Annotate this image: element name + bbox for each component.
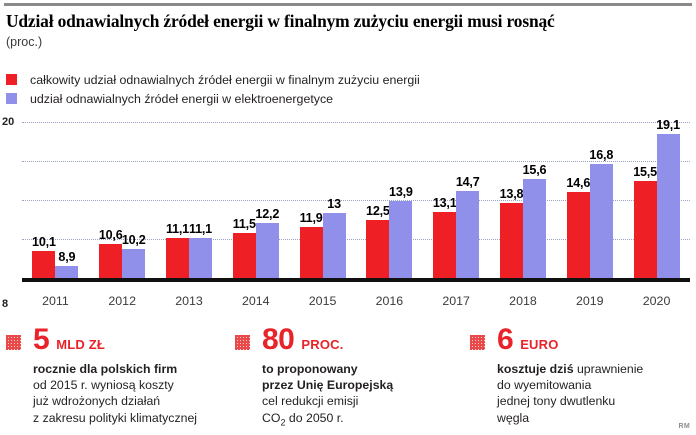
- bar-value-label: 15,6: [523, 163, 547, 177]
- stat-unit: PROC.: [301, 337, 343, 352]
- bar-value-label: 13,8: [500, 187, 524, 201]
- legend-item-total: całkowity udział odnawialnych źródeł ene…: [6, 70, 606, 89]
- bar-electricity-2015[interactable]: 13: [323, 213, 346, 278]
- stat-line: jednej tony dwutlenku: [497, 393, 696, 409]
- bar-value-label: 13: [327, 197, 341, 211]
- bar-total-2011[interactable]: 10,1: [32, 251, 55, 278]
- legend-label-total: całkowity udział odnawialnych źródeł ene…: [30, 73, 420, 87]
- x-axis-tick-2014: 2014: [242, 294, 270, 308]
- legend-item-electricity: udział odnawialnych źródeł energii w ele…: [6, 89, 606, 108]
- x-axis-tick-2013: 2013: [175, 294, 203, 308]
- stat-description: rocznie dla polskich firmod 2015 r. wyni…: [33, 361, 236, 426]
- bar-pair: 14,616,8: [567, 122, 613, 278]
- bar-group-2018: 13,815,62018: [490, 122, 557, 278]
- stat-description: kosztuje dziś uprawnieniedo wyemitowania…: [497, 361, 696, 426]
- x-axis-tick-2020: 2020: [643, 294, 671, 308]
- stat-number: 6: [497, 325, 513, 355]
- stat-line: CO2 do 2050 r.: [262, 410, 465, 429]
- stat-line: już wdrożonych działań: [33, 393, 236, 409]
- stat-line: przez Unię Europejską: [262, 377, 465, 393]
- bar-electricity-2018[interactable]: 15,6: [523, 179, 546, 278]
- grid-squares-icon: [235, 335, 250, 350]
- bar-value-label: 12,2: [255, 207, 279, 221]
- x-axis-tick-2011: 2011: [42, 294, 69, 308]
- stat-unit: MLD ZŁ: [56, 337, 105, 352]
- bar-group-2015: 11,9132015: [289, 122, 356, 278]
- bar-group-2013: 11,111,12013: [156, 122, 223, 278]
- bar-pair: 13,114,7: [433, 122, 479, 278]
- chart-units-subtitle: (proc.): [6, 36, 690, 50]
- bar-total-2013[interactable]: 11,1: [166, 238, 189, 278]
- chart-legend: całkowity udział odnawialnych źródeł ene…: [6, 70, 606, 108]
- bar-total-2019[interactable]: 14,6: [567, 192, 590, 278]
- bar-value-label: 8,9: [58, 250, 75, 264]
- bar-value-label: 11,5: [233, 217, 256, 231]
- x-axis-tick-2018: 2018: [509, 294, 537, 308]
- stat-number: 80: [262, 325, 294, 355]
- stat-line: to proponowany: [262, 361, 465, 377]
- bar-group-2019: 14,616,82019: [556, 122, 623, 278]
- y-axis-label-bottom: 8: [2, 298, 8, 310]
- bar-pair: 11,111,1: [166, 122, 212, 278]
- x-axis-baseline: [22, 278, 690, 282]
- bar-group-2012: 10,610,22012: [89, 122, 156, 278]
- stat-description: to proponowanyprzez Unię Europejskącel r…: [262, 361, 465, 429]
- bar-groups: 10,18,9201110,610,2201211,111,1201311,51…: [22, 122, 690, 278]
- bar-total-2017[interactable]: 13,1: [433, 212, 456, 278]
- bar-electricity-2013[interactable]: 11,1: [189, 238, 212, 278]
- bar-total-2016[interactable]: 12,5: [366, 220, 389, 279]
- stat-panels: 5MLD ZŁrocznie dla polskich firmod 2015 …: [0, 325, 696, 435]
- stat-header: 80PROC.: [235, 325, 465, 359]
- bar-total-2015[interactable]: 11,9: [300, 227, 323, 278]
- bar-electricity-2012[interactable]: 10,2: [122, 249, 145, 278]
- x-axis-tick-2017: 2017: [442, 294, 470, 308]
- legend-swatch-total: [6, 74, 17, 85]
- bar-pair: 13,815,6: [500, 122, 546, 278]
- grid-squares-icon: [6, 335, 21, 350]
- bar-value-label: 10,2: [122, 233, 146, 247]
- stat-panel-1: 5MLD ZŁrocznie dla polskich firmod 2015 …: [6, 325, 236, 426]
- bar-electricity-2014[interactable]: 12,2: [256, 223, 279, 278]
- bar-value-label: 13,9: [389, 185, 413, 199]
- bar-group-2014: 11,512,22014: [222, 122, 289, 278]
- bar-electricity-2020[interactable]: 19,1: [657, 134, 680, 278]
- stat-line: węgla: [497, 410, 696, 426]
- stat-line: od 2015 r. wyniosą koszty: [33, 377, 236, 393]
- bar-value-label: 10,1: [32, 235, 56, 249]
- header: Udział odnawialnych źródeł energii w fin…: [6, 12, 690, 50]
- bar-pair: 11,913: [300, 122, 346, 278]
- bar-group-2016: 12,513,92016: [356, 122, 423, 278]
- x-axis-tick-2012: 2012: [108, 294, 136, 308]
- stat-panel-2: 80PROC.to proponowanyprzez Unię Europejs…: [235, 325, 465, 429]
- bar-total-2020[interactable]: 15,5: [634, 181, 657, 279]
- stat-line: kosztuje dziś uprawnienie: [497, 361, 696, 377]
- stat-panel-3: 6EUROkosztuje dziś uprawnieniedo wyemito…: [470, 325, 696, 426]
- y-axis-label-top: 20: [2, 116, 14, 128]
- bar-value-label: 11,1: [166, 222, 189, 236]
- bar-value-label: 19,1: [656, 118, 680, 132]
- bar-electricity-2011[interactable]: 8,9: [55, 266, 78, 278]
- bar-value-label: 14,7: [456, 175, 480, 189]
- bar-value-label: 13,1: [433, 196, 457, 210]
- bar-value-label: 16,8: [589, 148, 613, 162]
- stat-line-suffix: uprawnienie: [574, 362, 644, 376]
- credit-mark: RM: [679, 423, 691, 430]
- bar-total-2018[interactable]: 13,8: [500, 203, 523, 278]
- legend-label-electricity: udział odnawialnych źródeł energii w ele…: [30, 92, 333, 106]
- bar-chart: 20 8 10,18,9201110,610,2201211,111,12013…: [0, 112, 696, 304]
- stat-unit: EURO: [520, 337, 558, 352]
- stat-line: do wyemitowania: [497, 377, 696, 393]
- bar-electricity-2016[interactable]: 13,9: [389, 201, 412, 278]
- bar-value-label: 14,6: [566, 176, 590, 190]
- grid-squares-icon: [470, 335, 485, 350]
- legend-swatch-electricity: [6, 93, 17, 104]
- bar-pair: 12,513,9: [366, 122, 412, 278]
- bar-group-2017: 13,114,72017: [423, 122, 490, 278]
- bar-total-2012[interactable]: 10,6: [99, 244, 122, 278]
- bar-pair: 11,512,2: [233, 122, 279, 278]
- bar-electricity-2019[interactable]: 16,8: [590, 164, 613, 278]
- bar-value-label: 12,5: [366, 204, 390, 218]
- bar-pair: 10,610,2: [99, 122, 145, 278]
- x-axis-tick-2016: 2016: [376, 294, 404, 308]
- bar-value-label: 15,5: [633, 165, 657, 179]
- stat-line: cel redukcji emisji: [262, 393, 465, 409]
- top-divider: [4, 3, 692, 6]
- x-axis-tick-2015: 2015: [309, 294, 337, 308]
- bar-group-2011: 10,18,92011: [22, 122, 89, 278]
- stat-number: 5: [33, 325, 49, 355]
- bar-value-label: 11,9: [300, 211, 323, 225]
- bar-pair: 10,18,9: [32, 122, 78, 278]
- bar-value-label: 10,6: [99, 228, 123, 242]
- x-axis-tick-2019: 2019: [576, 294, 604, 308]
- bar-value-label: 11,1: [189, 222, 212, 236]
- bar-group-2020: 15,519,12020: [623, 122, 690, 278]
- stat-header: 6EURO: [470, 325, 696, 359]
- bar-electricity-2017[interactable]: 14,7: [456, 191, 479, 278]
- page-title: Udział odnawialnych źródeł energii w fin…: [6, 12, 690, 31]
- stat-header: 5MLD ZŁ: [6, 325, 236, 359]
- stat-line: z zakresu polityki klimatycznej: [33, 410, 236, 426]
- stat-line: rocznie dla polskich firm: [33, 361, 236, 377]
- bar-total-2014[interactable]: 11,5: [233, 233, 256, 279]
- bar-pair: 15,519,1: [634, 122, 680, 278]
